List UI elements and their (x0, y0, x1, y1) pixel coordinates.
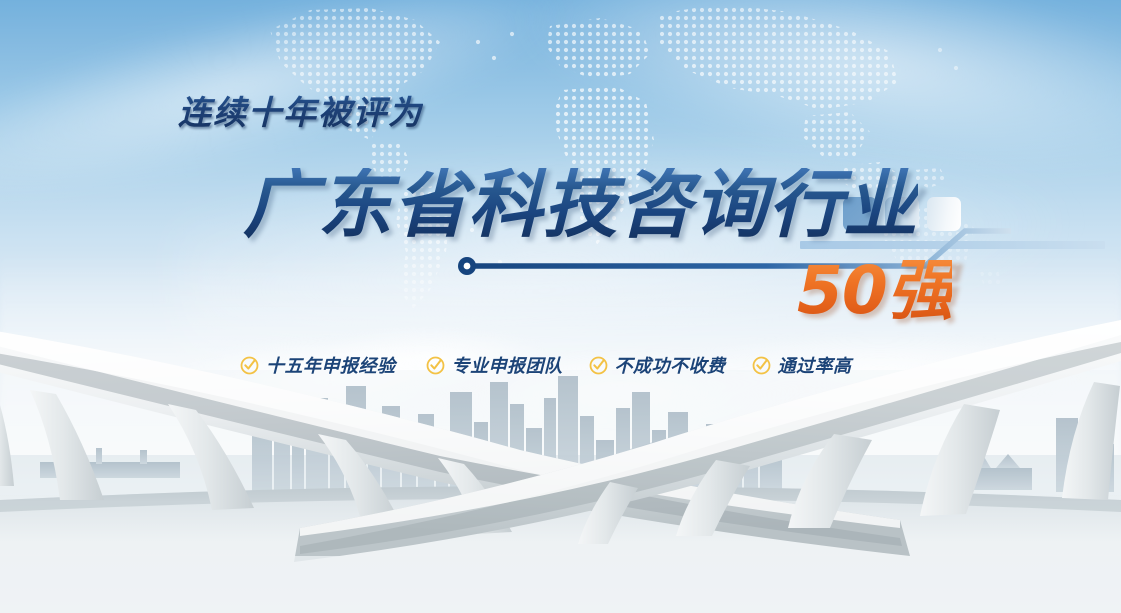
status-badge: 50强 (797, 258, 952, 324)
list-item-label: 通过率高 (778, 352, 852, 378)
feature-list: 十五年申报经验 专业申报团队 (240, 352, 852, 378)
promo-banner: 连续十年被评为 连续十年被评为 广东省科技咨询行业 广东省科技咨询行业 50强 … (0, 0, 1121, 613)
list-item-label: 十五年申报经验 (266, 352, 396, 378)
list-item: 通过率高 (752, 352, 852, 378)
page-title: 广东省科技咨询行业 (243, 168, 918, 242)
list-item: 专业申报团队 (426, 352, 563, 378)
check-circle-icon (752, 356, 771, 375)
list-item: 十五年申报经验 (240, 352, 396, 378)
list-item: 不成功不收费 (589, 352, 726, 378)
banner-content: 连续十年被评为 连续十年被评为 广东省科技咨询行业 广东省科技咨询行业 50强 … (0, 0, 1121, 613)
check-circle-icon (589, 356, 608, 375)
list-item-label: 专业申报团队 (452, 352, 563, 378)
eyebrow-text: 连续十年被评为 (178, 86, 423, 134)
check-circle-icon (426, 356, 445, 375)
check-circle-icon (240, 356, 259, 375)
list-item-label: 不成功不收费 (615, 352, 726, 378)
